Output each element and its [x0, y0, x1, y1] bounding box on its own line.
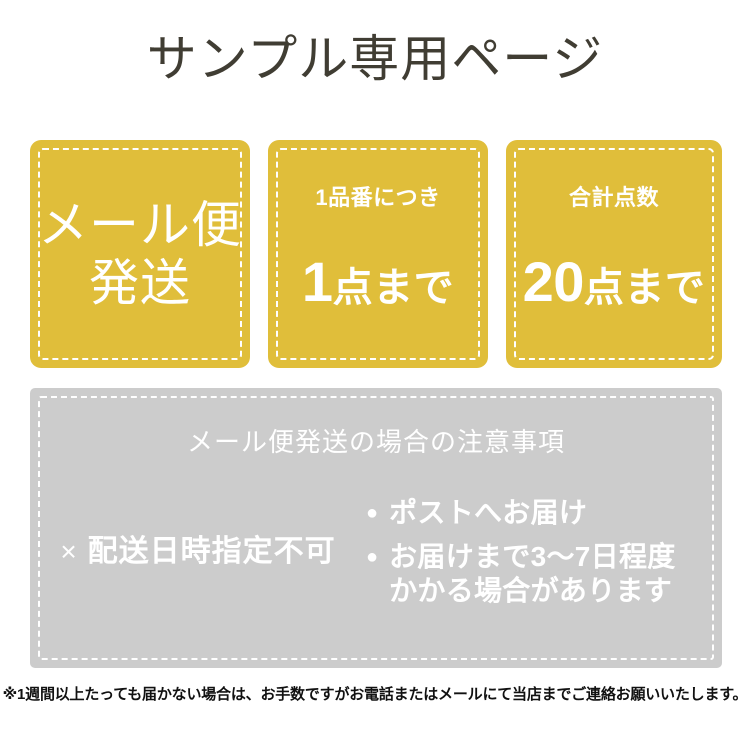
list-item-line1: お届けまで3〜7日程度 [389, 541, 675, 572]
card-per-item-limit-content: 1品番につき 1点まで [268, 185, 488, 324]
card-per-item-limit-unit: 点まで [333, 266, 455, 310]
list-item-text: ポストへお届け [389, 496, 587, 530]
info-cards-row: メール便 発送 1品番につき 1点まで 合計点数 20点まで [30, 140, 722, 368]
footer-note: ※1週間以上たっても届かない場合は、お手数ですがお電話またはメールにて当店までご… [0, 684, 750, 706]
list-item-text: お届けまで3〜7日程度 かかる場合があります [389, 540, 675, 608]
card-total-limit-unit: 点まで [584, 266, 706, 310]
card-total-limit: 合計点数 20点まで [506, 140, 722, 368]
cross-icon: × [60, 536, 77, 568]
card-shipping-method: メール便 発送 [30, 140, 250, 368]
notice-body: ×配送日時指定不可 ● ポストへお届け ● お届けまで3〜7日程度 かかる場合が… [30, 496, 722, 646]
card-per-item-limit-caption: 1品番につき [268, 185, 488, 211]
page-title: サンプル専用ページ [0, 28, 750, 90]
card-per-item-limit-value: 1点まで [268, 255, 488, 324]
card-shipping-method-line1: メール便 [30, 196, 250, 254]
list-item-line2: かかる場合があります [389, 574, 675, 608]
card-total-limit-number: 20 [523, 250, 584, 313]
list-item: ● お届けまで3〜7日程度 かかる場合があります [366, 540, 722, 608]
list-item: ● ポストへお届け [366, 496, 722, 530]
card-shipping-method-line2: 発送 [30, 254, 250, 312]
card-total-limit-caption: 合計点数 [506, 185, 722, 211]
card-per-item-limit: 1品番につき 1点まで [268, 140, 488, 368]
bullet-dot-icon: ● [366, 496, 378, 530]
list-item-line1: ポストへお届け [389, 497, 587, 528]
bullet-dot-icon: ● [366, 540, 378, 574]
card-per-item-limit-number: 1 [302, 250, 333, 313]
notice-bullet-list: ● ポストへお届け ● お届けまで3〜7日程度 かかる場合があります [366, 496, 722, 608]
card-total-limit-content: 合計点数 20点まで [506, 185, 722, 324]
notice-heading: メール便発送の場合の注意事項 [30, 425, 722, 459]
notice-panel: メール便発送の場合の注意事項 ×配送日時指定不可 ● ポストへお届け ● お届け… [30, 388, 722, 668]
card-total-limit-value: 20点まで [506, 255, 722, 324]
notice-no-date-designation-label: 配送日時指定不可 [88, 535, 336, 568]
notice-no-date-designation: ×配送日時指定不可 [30, 496, 366, 570]
card-shipping-method-content: メール便 発送 [30, 196, 250, 312]
